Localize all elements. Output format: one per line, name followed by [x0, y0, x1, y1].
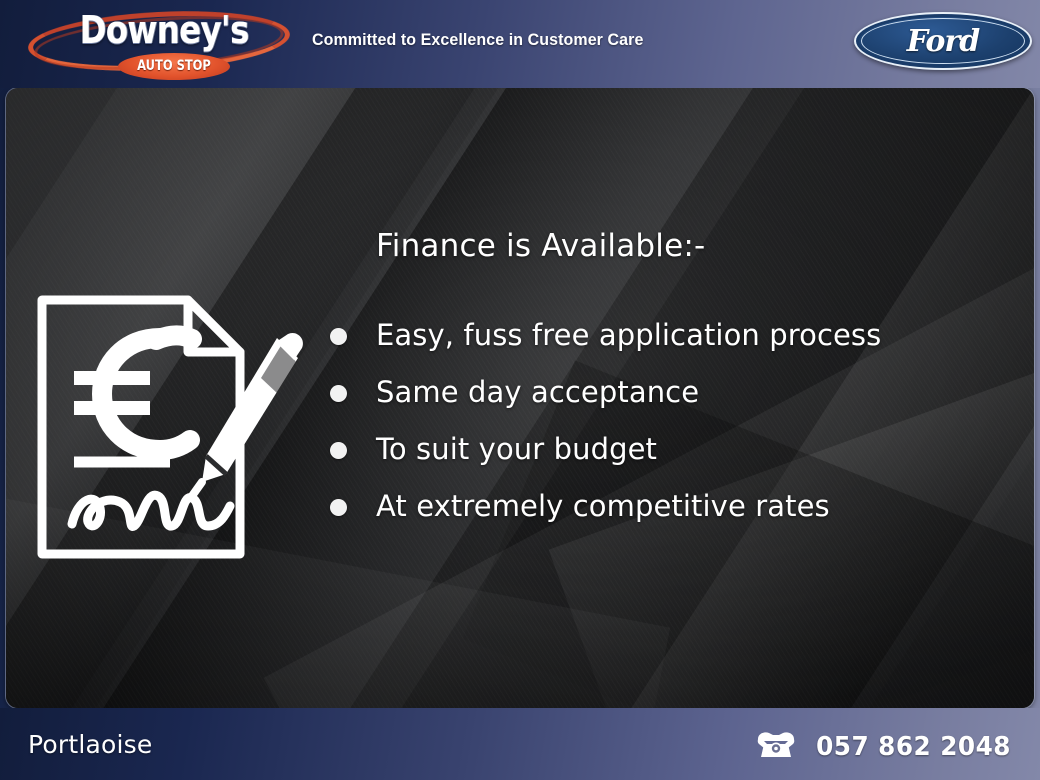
- list-item: Same day acceptance: [328, 369, 1028, 426]
- tagline: Committed to Excellence in Customer Care: [312, 30, 643, 50]
- phone-contact[interactable]: 057 862 2048: [755, 728, 1016, 765]
- brand-sub-label: AUTO STOP: [128, 53, 220, 80]
- brand-name: Downey's: [78, 8, 250, 52]
- list-item: To suit your budget: [328, 426, 1028, 483]
- footer-bar: Portlaoise 057 862 2048: [0, 708, 1040, 780]
- header-bar: Downey's AUTO STOP Committed to Excellen…: [0, 0, 1040, 88]
- finance-benefits-list: Easy, fuss free application process Same…: [328, 312, 1028, 540]
- list-item: Easy, fuss free application process: [328, 312, 1028, 369]
- euro-document-signature-icon: [30, 282, 310, 572]
- ford-wordmark: Ford: [854, 12, 1032, 70]
- list-item: At extremely competitive rates: [328, 483, 1028, 540]
- phone-number: 057 862 2048: [816, 732, 1011, 762]
- ford-logo[interactable]: Ford: [854, 12, 1032, 70]
- location-label: Portlaoise: [28, 730, 152, 759]
- telephone-icon: [755, 728, 797, 765]
- finance-promo-banner: Downey's AUTO STOP Committed to Excellen…: [0, 0, 1040, 780]
- page-title: Finance is Available:-: [376, 228, 705, 264]
- brand-sub-badge: AUTO STOP: [118, 53, 230, 80]
- downeys-auto-stop-logo[interactable]: Downey's AUTO STOP: [18, 4, 300, 84]
